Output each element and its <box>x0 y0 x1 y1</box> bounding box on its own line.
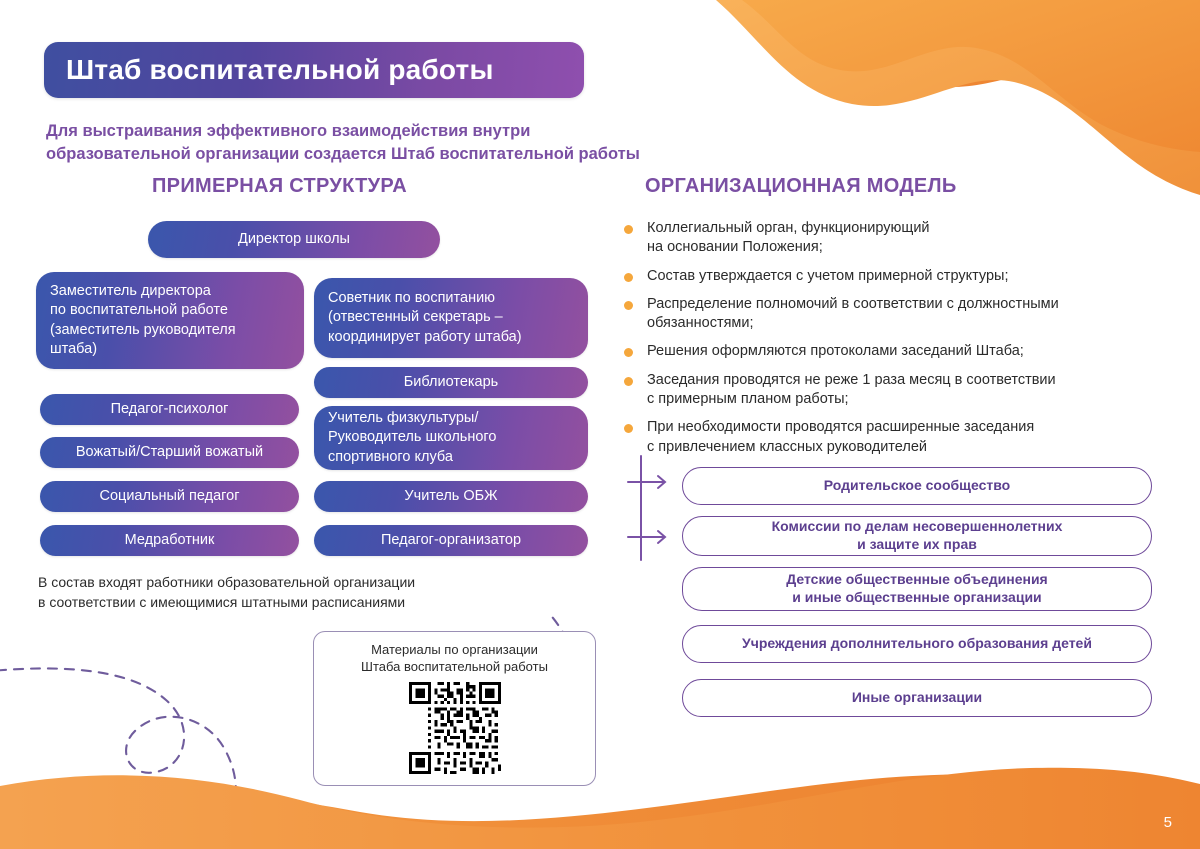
bullet-dot-icon <box>624 424 633 433</box>
pill-medic[interactable]: Медработник <box>40 525 299 556</box>
pill-director[interactable]: Директор школы <box>148 221 440 258</box>
pill-education-advisor[interactable]: Советник по воспитанию (отвестенный секр… <box>314 278 588 358</box>
connector-arrows <box>626 452 688 564</box>
bottom-wave-group <box>0 768 1200 849</box>
qr-caption-line-1: Материалы по организации <box>314 641 595 658</box>
model-bullet-list: Коллегиальный орган, функционирующий на … <box>620 219 1165 466</box>
slide-title-banner: Штаб воспитательной работы <box>44 42 584 98</box>
bullet-text: Распределение полномочий в соответствии … <box>647 296 1059 331</box>
slide-canvas: Штаб воспитательной работы Для выстраива… <box>0 0 1200 849</box>
obox-childrens-associations[interactable]: Детские общественные объединения и иные … <box>682 567 1152 611</box>
list-item: Заседания проводятся не реже 1 раза меся… <box>620 371 1165 410</box>
structure-footnote: В состав входят работники образовательно… <box>38 572 418 613</box>
bullet-text: Коллегиальный орган, функционирующий на … <box>647 220 930 255</box>
top-wave-back <box>760 0 1200 150</box>
list-item: Распределение полномочий в соответствии … <box>620 295 1165 334</box>
pill-pe-teacher[interactable]: Учитель физкультуры/ Руководитель школьн… <box>314 406 588 470</box>
obox-other-organizations[interactable]: Иные организации <box>682 679 1152 717</box>
top-wave-front <box>742 0 1200 152</box>
pill-librarian[interactable]: Библиотекарь <box>314 367 588 398</box>
list-item: Состав утверждается с учетом примерной с… <box>620 267 1165 286</box>
bottom-wave-back <box>0 774 1200 849</box>
intro-paragraph: Для выстраивания эффективного взаимодейс… <box>46 120 766 166</box>
intro-line-1: Для выстраивания эффективного взаимодейс… <box>46 122 530 140</box>
pill-obzh-teacher[interactable]: Учитель ОБЖ <box>314 481 588 512</box>
list-item: Коллегиальный орган, функционирующий на … <box>620 219 1165 258</box>
pill-organizer-teacher[interactable]: Педагог-организатор <box>314 525 588 556</box>
bullet-text: Решения оформляются протоколами заседани… <box>647 343 1024 359</box>
list-item: При необходимости проводятся расширенные… <box>620 418 1165 457</box>
top-right-wave-group <box>716 0 1200 195</box>
obox-juvenile-commission[interactable]: Комиссии по делам несовершеннолетних и з… <box>682 516 1152 556</box>
qr-card[interactable]: Материалы по организации Штаба воспитате… <box>313 631 596 786</box>
heading-structure: ПРИМЕРНАЯ СТРУКТУРА <box>152 175 407 198</box>
top-wave-mid <box>716 0 1200 195</box>
bullet-dot-icon <box>624 225 633 234</box>
pill-deputy-director[interactable]: Заместитель директора по воспитательной … <box>36 272 304 369</box>
list-item: Решения оформляются протоколами заседани… <box>620 342 1165 361</box>
qr-caption-line-2: Штаба воспитательной работы <box>314 658 595 675</box>
bullet-dot-icon <box>624 301 633 310</box>
intro-line-2: образовательной организации создается Шт… <box>46 143 766 166</box>
heading-model: ОРГАНИЗАЦИОННАЯ МОДЕЛЬ <box>645 175 957 198</box>
pill-counselor[interactable]: Вожатый/Старший вожатый <box>40 437 299 468</box>
obox-parent-community[interactable]: Родительское сообщество <box>682 467 1152 505</box>
bullet-text: Заседания проводятся не реже 1 раза меся… <box>647 372 1056 407</box>
bullet-dot-icon <box>624 273 633 282</box>
qr-code-icon[interactable] <box>409 682 501 774</box>
pill-psychologist[interactable]: Педагог-психолог <box>40 394 299 425</box>
bottom-wave-front <box>0 768 1200 849</box>
bullet-text: Состав утверждается с учетом примерной с… <box>647 268 1009 284</box>
page-title: Штаб воспитательной работы <box>44 54 494 86</box>
page-number: 5 <box>1164 814 1172 831</box>
bullet-text: При необходимости проводятся расширенные… <box>647 419 1034 454</box>
bullet-dot-icon <box>624 377 633 386</box>
pill-social-teacher[interactable]: Социальный педагог <box>40 481 299 512</box>
obox-supplementary-education[interactable]: Учреждения дополнительного образования д… <box>682 625 1152 663</box>
bullet-dot-icon <box>624 348 633 357</box>
